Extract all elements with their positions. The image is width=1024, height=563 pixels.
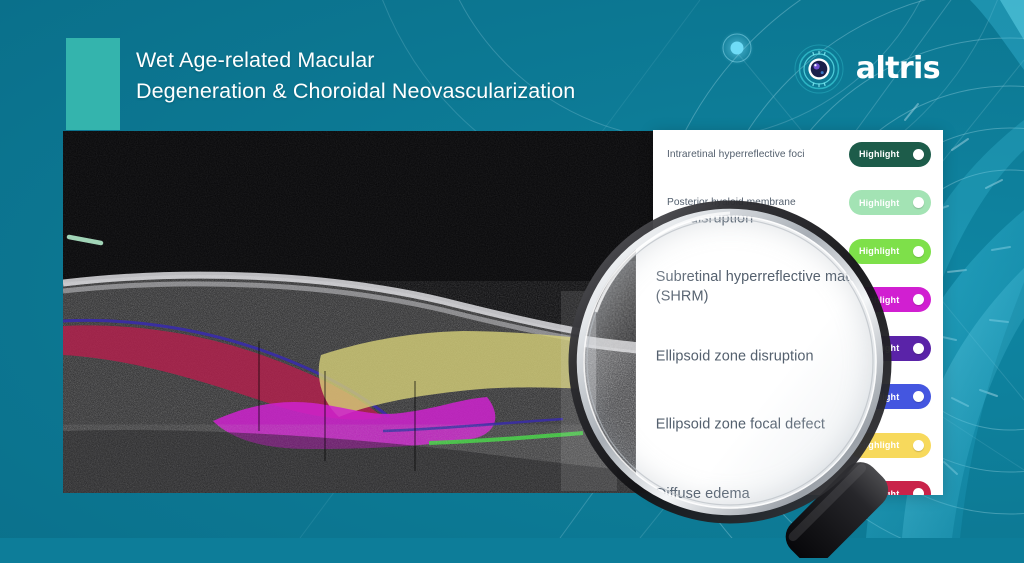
toggle-knob-icon[interactable] [913, 294, 924, 305]
highlight-label: Highlight [859, 295, 899, 305]
oct-scan-image [63, 131, 663, 493]
finding-label: Intraretinal hyperreflective foci [667, 148, 813, 162]
highlight-toggle[interactable]: Highlight [849, 239, 931, 264]
finding-label: Diffuse edema [667, 439, 741, 453]
highlight-label: Highlight [859, 343, 899, 353]
highlight-toggle[interactable]: Highlight [849, 287, 931, 312]
list-item[interactable]: Ellipsoid zone disruption Highlight [653, 324, 943, 373]
accent-block [66, 38, 120, 130]
finding-label: Ellipsoid zone disruption [667, 342, 786, 356]
list-item[interactable]: Subretinal hyperreflective material (SHR… [653, 276, 943, 325]
finding-label: Subretinal fluid [667, 487, 743, 495]
findings-list: Intraretinal hyperreflective foci Highli… [653, 130, 943, 495]
page-title-line2: Degeneration & Choroidal Neovascularizat… [136, 76, 656, 107]
page-title: Wet Age-related Macular Degeneration & C… [136, 45, 656, 107]
toggle-knob-icon[interactable] [913, 197, 924, 208]
highlight-label: Highlight [859, 440, 899, 450]
highlight-toggle[interactable]: Highlight [849, 336, 931, 361]
toggle-knob-icon[interactable] [913, 149, 924, 160]
highlight-toggle[interactable]: Highlight [849, 384, 931, 409]
list-item[interactable]: Diffuse edema Highlight [653, 421, 943, 470]
highlight-label: Highlight [859, 198, 899, 208]
findings-panel: Intraretinal hyperreflective foci Highli… [653, 130, 943, 495]
highlight-label: Highlight [859, 149, 899, 159]
finding-label: Ellipsoid zone focal defect [667, 390, 794, 404]
list-item[interactable]: Intraretinal hyperreflective foci Highli… [653, 130, 943, 179]
highlight-toggle[interactable]: Highlight [849, 142, 931, 167]
finding-label: Posterior hyaloid membrane [667, 196, 804, 210]
eye-icon [793, 43, 845, 95]
highlight-label: Highlight [859, 392, 899, 402]
list-item[interactable]: Ellipsoid zone focal defect Highlight [653, 373, 943, 422]
finding-label: Subretinal hyperreflective material (SHR… [667, 286, 840, 313]
toggle-knob-icon[interactable] [913, 343, 924, 354]
highlight-toggle[interactable]: Highlight [849, 433, 931, 458]
list-item[interactable]: RPE disruption Highlight [653, 227, 943, 276]
toggle-knob-icon[interactable] [913, 488, 924, 495]
brand-logo: altris [793, 43, 940, 95]
page-title-line1: Wet Age-related Macular [136, 48, 375, 72]
highlight-label: Highlight [859, 489, 899, 495]
toggle-knob-icon[interactable] [913, 246, 924, 257]
highlight-toggle[interactable]: Highlight [849, 481, 931, 495]
logo-wordmark: altris [856, 54, 940, 84]
highlight-toggle[interactable]: Highlight [849, 190, 931, 215]
list-item[interactable]: Subretinal fluid Highlight [653, 470, 943, 496]
list-item[interactable]: Posterior hyaloid membrane Highlight [653, 179, 943, 228]
toggle-knob-icon[interactable] [913, 391, 924, 402]
highlight-label: Highlight [859, 246, 899, 256]
finding-label: RPE disruption [667, 245, 744, 259]
toggle-knob-icon[interactable] [913, 440, 924, 451]
